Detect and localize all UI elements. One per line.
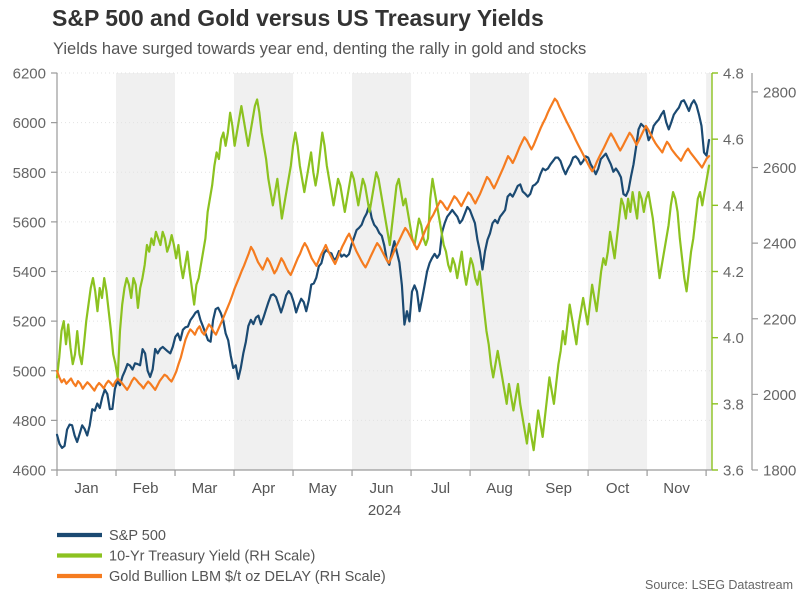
left-axis-tick-label: 5400 <box>13 264 46 281</box>
x-axis-month-label: Aug <box>486 480 513 497</box>
right-axis-gold-tick-label: 2400 <box>763 236 796 253</box>
right-axis-gold-tick-label: 1800 <box>763 463 796 480</box>
legend-label: Gold Bullion LBM $/t oz DELAY (RH Scale) <box>109 569 386 585</box>
source-attribution: Source: LSEG Datastream <box>645 578 793 592</box>
legend-label: 10-Yr Treasury Yield (RH Scale) <box>109 549 315 565</box>
left-axis-tick-label: 6000 <box>13 115 46 132</box>
left-axis-tick-label: 5600 <box>13 214 46 231</box>
right-axis-yield-tick-label: 4.2 <box>723 264 744 281</box>
x-axis-month-label: May <box>308 480 337 497</box>
x-axis-month-label: Jan <box>74 480 98 497</box>
chart-subtitle: Yields have surged towards year end, den… <box>53 40 586 58</box>
x-axis-month-label: Apr <box>252 480 275 497</box>
chart-container: S&P 500 and Gold versus US Treasury Yiel… <box>0 0 801 601</box>
right-axis-yield-tick-label: 4.8 <box>723 66 744 83</box>
right-axis-gold-tick-label: 2000 <box>763 387 796 404</box>
right-axis-yield-tick-label: 4.4 <box>723 198 744 215</box>
chart-svg: S&P 500 and Gold versus US Treasury Yiel… <box>0 0 801 601</box>
left-axis-tick-label: 5800 <box>13 165 46 182</box>
left-axis-tick-label: 6200 <box>13 66 46 83</box>
left-axis-tick-label: 5200 <box>13 314 46 331</box>
x-axis-month-label: Jun <box>369 480 393 497</box>
left-axis-tick-label: 5000 <box>13 363 46 380</box>
x-axis-month-label: Jul <box>431 480 450 497</box>
right-axis-gold-tick-label: 2800 <box>763 84 796 101</box>
page-title: S&P 500 and Gold versus US Treasury Yiel… <box>52 5 544 31</box>
x-axis-month-label: Oct <box>606 480 630 497</box>
legend-label: S&P 500 <box>109 528 166 544</box>
x-axis-month-label: Nov <box>663 480 690 497</box>
right-axis-gold-tick-label: 2200 <box>763 311 796 328</box>
left-axis-tick-label: 4600 <box>13 463 46 480</box>
left-axis-tick-label: 4800 <box>13 413 46 430</box>
right-axis-gold-tick-label: 2600 <box>763 160 796 177</box>
right-axis-yield-tick-label: 4.6 <box>723 132 744 149</box>
right-axis-yield-tick-label: 4.0 <box>723 330 744 347</box>
month-band <box>234 73 293 470</box>
right-axis-yield-tick-label: 3.8 <box>723 396 744 413</box>
x-axis-month-label: Mar <box>192 480 218 497</box>
x-axis-year-label: 2024 <box>368 502 401 519</box>
x-axis-month-label: Feb <box>133 480 159 497</box>
x-axis-month-label: Sep <box>545 480 572 497</box>
right-axis-yield-tick-label: 3.6 <box>723 463 744 480</box>
